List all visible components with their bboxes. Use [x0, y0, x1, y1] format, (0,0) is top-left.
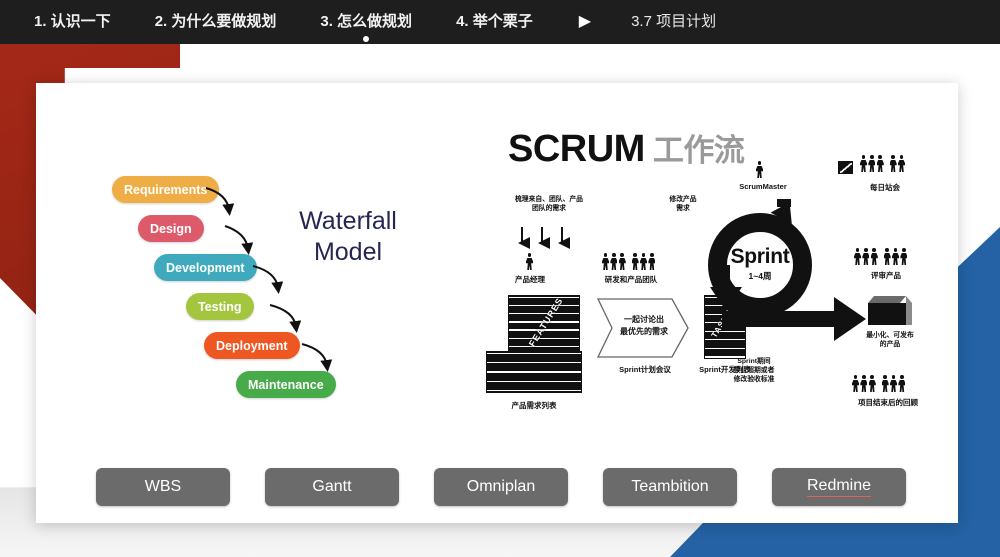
tool-button-omniplan-label: Omniplan — [467, 478, 535, 496]
top-navigation-bar: 1. 认识一下 2. 为什么要做规划 3. 怎么做规划 4. 举个栗子 ▶ 3.… — [0, 0, 1000, 44]
product-backlog-stack — [486, 351, 582, 393]
waterfall-flow-arrows — [96, 158, 426, 408]
scrum-workflow-diagram: SCRUM工作流 ScrumMaster 梳理来自、团队、产品 团队的需求 修改… — [456, 103, 956, 493]
breadcrumb-label: 3.7 项目计划 — [631, 13, 716, 30]
retrospective-people-icons — [852, 375, 907, 392]
tool-button-wbs[interactable]: WBS — [96, 468, 230, 506]
review-product-people-icons — [854, 248, 909, 265]
tool-button-redmine[interactable]: Redmine — [772, 468, 906, 506]
nav-item-4[interactable]: 4. 举个栗子 — [456, 0, 533, 44]
active-indicator-dot — [363, 36, 369, 42]
backlog-source-label: 梳理来自、团队、产品 团队的需求 — [494, 195, 604, 213]
sprint-rule-label: Sprint期间 禁止超期或者 修改验收标准 — [706, 357, 802, 385]
daily-standup-people-icons — [860, 155, 906, 172]
dev-team-label: 研发和产品团队 — [596, 275, 666, 285]
tool-button-omniplan[interactable]: Omniplan — [434, 468, 568, 506]
review-product-label: 评审产品 — [854, 271, 918, 281]
daily-standup-label: 每日站会 — [852, 183, 918, 193]
scrum-master-icon — [756, 161, 764, 178]
scrum-title-cn: 工作流 — [653, 133, 745, 168]
planning-chevron-text: 一起讨论出 最优先的需求 — [604, 314, 684, 337]
breadcrumb[interactable]: 3.7 项目计划 — [631, 0, 716, 44]
product-backlog-label: 产品需求列表 — [484, 401, 584, 411]
slide-stage: 1. 认识一下 2. 为什么要做规划 3. 怎么做规划 4. 举个栗子 ▶ 3.… — [0, 0, 1000, 557]
tool-button-row: WBS Gantt Omniplan Teambition Redmine — [96, 468, 906, 506]
nav-item-3-label: 3. 怎么做规划 — [320, 13, 412, 30]
nav-item-2-label: 2. 为什么要做规划 — [155, 13, 277, 30]
backlog-input-arrows — [516, 225, 582, 251]
tool-button-wbs-label: WBS — [145, 478, 181, 496]
daily-standup-flag-icon — [838, 161, 853, 174]
nav-item-4-label: 4. 举个栗子 — [456, 13, 533, 30]
tool-button-teambition-label: Teambition — [631, 478, 708, 496]
product-manager-label: 产品经理 — [498, 275, 562, 285]
product-manager-icon — [526, 253, 534, 270]
slide-card: Waterfall Model Requirements Design Deve… — [36, 83, 958, 523]
planning-meeting-label: Sprint计划会议 — [600, 365, 690, 375]
nav-item-3[interactable]: 3. 怎么做规划 — [320, 0, 412, 44]
scrum-title-en: SCRUM — [508, 128, 645, 170]
tool-button-redmine-label: Redmine — [807, 477, 871, 497]
play-triangle-icon[interactable]: ▶ — [579, 0, 591, 44]
waterfall-model-diagram: Waterfall Model Requirements Design Deve… — [96, 158, 426, 408]
nav-item-1[interactable]: 1. 认识一下 — [34, 0, 111, 44]
scrum-title: SCRUM工作流 — [508, 125, 744, 171]
shippable-product-cube-icon — [868, 303, 906, 325]
dev-team-icons — [602, 253, 657, 270]
retrospective-label: 项目结束后的回顾 — [842, 398, 934, 408]
shippable-product-label: 最小化、可发布 的产品 — [852, 331, 928, 349]
tool-button-teambition[interactable]: Teambition — [603, 468, 737, 506]
nav-item-2[interactable]: 2. 为什么要做规划 — [155, 0, 277, 44]
nav-item-1-label: 1. 认识一下 — [34, 13, 111, 30]
tool-button-gantt-label: Gantt — [312, 478, 351, 496]
tool-button-gantt[interactable]: Gantt — [265, 468, 399, 506]
scrum-master-label: ScrumMaster — [724, 182, 802, 192]
